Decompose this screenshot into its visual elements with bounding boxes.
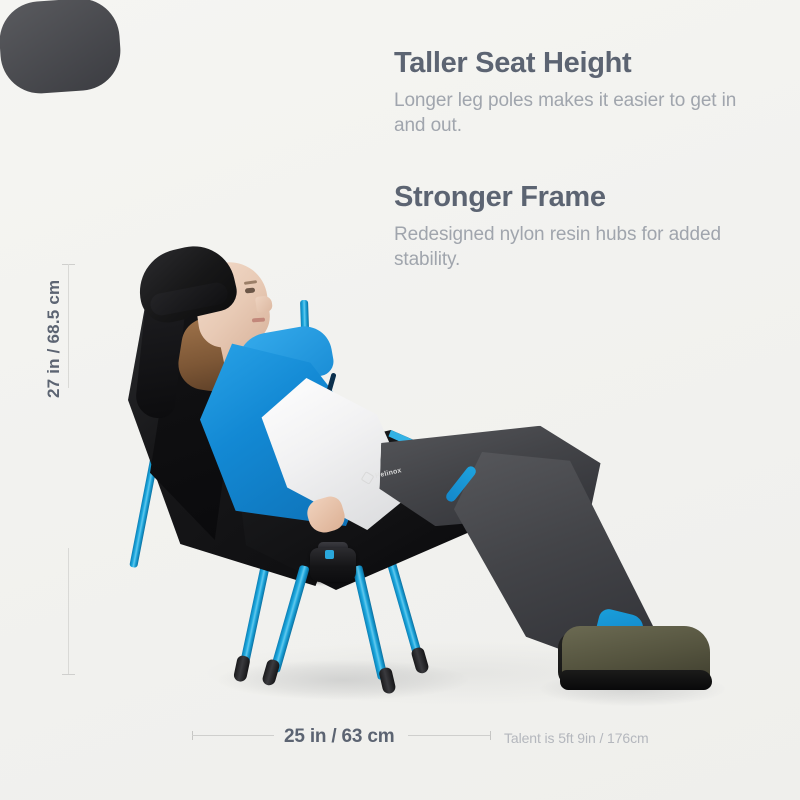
chair-foot-rear-right <box>410 646 430 675</box>
dimension-width-line-left <box>192 735 274 736</box>
chair-foot-front-right <box>378 667 397 695</box>
feature-title-2: Stronger Frame <box>394 182 744 213</box>
talent-height-note: Talent is 5ft 9in / 176cm <box>504 730 649 746</box>
feature-description-1: Longer leg poles makes it easier to get … <box>394 88 744 139</box>
helinox-mark-icon <box>361 471 375 485</box>
dimension-height-label: 27 in / 68.5 cm <box>44 280 64 398</box>
subject-pants-knee <box>0 0 123 96</box>
dimension-height-line-lower <box>68 548 69 674</box>
feature-title-1: Taller Seat Height <box>394 48 744 79</box>
floor-shadow-chair <box>218 660 468 700</box>
product-feature-image: Helinox Taller Seat Height Longer leg po… <box>0 0 800 800</box>
dimension-width-tick-right <box>490 731 491 740</box>
dimension-height-tick-bottom <box>62 674 75 675</box>
dimension-width-label: 25 in / 63 cm <box>284 726 394 748</box>
chair-leg-rear-left <box>239 559 271 670</box>
dimension-height-line-upper <box>68 264 69 388</box>
feature-block-2: Stronger Frame Redesigned nylon resin hu… <box>394 182 744 272</box>
chair-leg-rear-right <box>386 559 423 661</box>
chair-leg-front-left <box>270 565 310 673</box>
chair-leg-front-right <box>352 565 388 680</box>
feature-block-1: Taller Seat Height Longer leg poles make… <box>394 48 744 138</box>
feature-description-2: Redesigned nylon resin hubs for added st… <box>394 222 744 273</box>
subject-shoe-sole <box>560 670 712 690</box>
chair-hub-accent <box>325 550 334 559</box>
chair-foot-rear-left <box>233 655 251 683</box>
brand-name: Helinox <box>375 467 403 480</box>
subject-nose <box>255 295 273 313</box>
dimension-width-line-right <box>408 735 490 736</box>
